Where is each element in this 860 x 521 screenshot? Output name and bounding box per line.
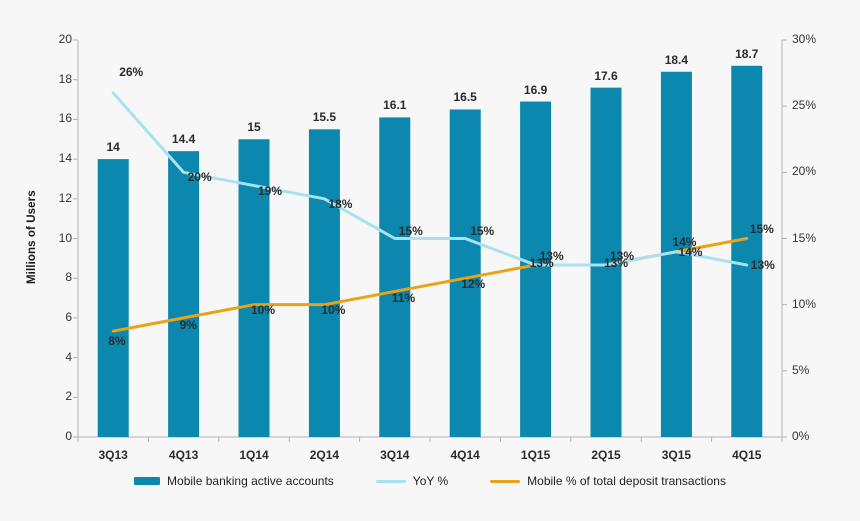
bar-value-label-2Q15: 17.6: [576, 69, 636, 83]
bar-value-label-3Q14: 16.1: [365, 98, 425, 112]
yoy-point-label-3Q13: 26%: [119, 65, 143, 79]
y-axis-tick-18: 18: [30, 72, 72, 86]
legend-line-swatch-icon: [490, 480, 520, 483]
legend-label: YoY %: [413, 474, 448, 488]
y2-axis-tick-25%: 25%: [792, 98, 838, 112]
bar-value-label-4Q13: 14.4: [154, 132, 214, 146]
x-axis-tick-1Q15: 1Q15: [506, 448, 566, 462]
y2-axis-tick-30%: 30%: [792, 32, 838, 46]
line-deposit-percent: [113, 239, 747, 332]
y-axis-tick-16: 16: [30, 111, 72, 125]
y-axis-tick-4: 4: [30, 350, 72, 364]
bar-value-label-3Q13: 14: [83, 140, 143, 154]
y2-axis-tick-10%: 10%: [792, 297, 838, 311]
deposit-point-label-2Q15: 13%: [604, 256, 628, 270]
yoy-point-label-4Q14: 15%: [470, 224, 494, 238]
yoy-point-label-4Q15: 13%: [751, 258, 775, 272]
yoy-point-label-1Q14: 19%: [258, 184, 282, 198]
x-axis-tick-4Q14: 4Q14: [435, 448, 495, 462]
x-axis-tick-3Q14: 3Q14: [365, 448, 425, 462]
bar-4Q13: [168, 151, 199, 437]
bar-3Q14: [379, 117, 410, 437]
deposit-point-label-1Q14: 10%: [251, 303, 275, 317]
y2-axis-tick-0%: 0%: [792, 429, 838, 443]
legend-bar-swatch-icon: [134, 477, 160, 485]
y-axis-tick-12: 12: [30, 191, 72, 205]
chart-legend: Mobile banking active accountsYoY %Mobil…: [0, 474, 860, 488]
bar-4Q14: [450, 109, 481, 437]
y-axis-tick-14: 14: [30, 151, 72, 165]
bar-4Q15: [731, 66, 762, 437]
y-axis-tick-2: 2: [30, 389, 72, 403]
bar-value-label-4Q14: 16.5: [435, 90, 495, 104]
deposit-point-label-4Q14: 12%: [461, 277, 485, 291]
y-axis-tick-20: 20: [30, 32, 72, 46]
y-axis-tick-0: 0: [30, 429, 72, 443]
deposit-point-label-1Q15: 13%: [530, 256, 554, 270]
y2-axis-tick-5%: 5%: [792, 363, 838, 377]
combo-chart: Millions of Users 024681012141618200%5%1…: [0, 0, 860, 521]
deposit-point-label-3Q15: 14%: [672, 235, 696, 249]
deposit-point-label-3Q13: 8%: [108, 334, 125, 348]
bar-value-label-3Q15: 18.4: [646, 53, 706, 67]
legend-item-2[interactable]: Mobile % of total deposit transactions: [490, 474, 726, 488]
legend-item-0[interactable]: Mobile banking active accounts: [134, 474, 334, 488]
bar-value-label-1Q15: 16.9: [506, 83, 566, 97]
legend-label: Mobile banking active accounts: [167, 474, 334, 488]
x-axis-tick-3Q13: 3Q13: [83, 448, 143, 462]
x-axis-tick-4Q13: 4Q13: [154, 448, 214, 462]
bar-value-label-2Q14: 15.5: [294, 110, 354, 124]
yoy-point-label-4Q13: 20%: [188, 170, 212, 184]
x-axis-tick-3Q15: 3Q15: [646, 448, 706, 462]
legend-item-1[interactable]: YoY %: [376, 474, 448, 488]
x-axis-tick-1Q14: 1Q14: [224, 448, 284, 462]
bar-3Q13: [98, 159, 129, 437]
y-axis-tick-10: 10: [30, 231, 72, 245]
legend-line-swatch-icon: [376, 480, 406, 483]
deposit-point-label-2Q14: 10%: [321, 303, 345, 317]
x-axis-tick-2Q14: 2Q14: [294, 448, 354, 462]
deposit-point-label-4Q13: 9%: [180, 318, 197, 332]
y2-axis-tick-15%: 15%: [792, 231, 838, 245]
y-axis-tick-8: 8: [30, 270, 72, 284]
yoy-point-label-3Q14: 15%: [399, 224, 423, 238]
deposit-point-label-3Q14: 11%: [392, 291, 415, 305]
bar-2Q14: [309, 129, 340, 437]
x-axis-tick-4Q15: 4Q15: [717, 448, 777, 462]
deposit-point-label-4Q15: 15%: [750, 222, 774, 236]
bar-value-label-1Q14: 15: [224, 120, 284, 134]
yoy-point-label-2Q14: 18%: [328, 197, 352, 211]
x-axis-tick-2Q15: 2Q15: [576, 448, 636, 462]
bar-value-label-4Q15: 18.7: [717, 47, 777, 61]
y2-axis-tick-20%: 20%: [792, 164, 838, 178]
legend-label: Mobile % of total deposit transactions: [527, 474, 726, 488]
y-axis-tick-6: 6: [30, 310, 72, 324]
